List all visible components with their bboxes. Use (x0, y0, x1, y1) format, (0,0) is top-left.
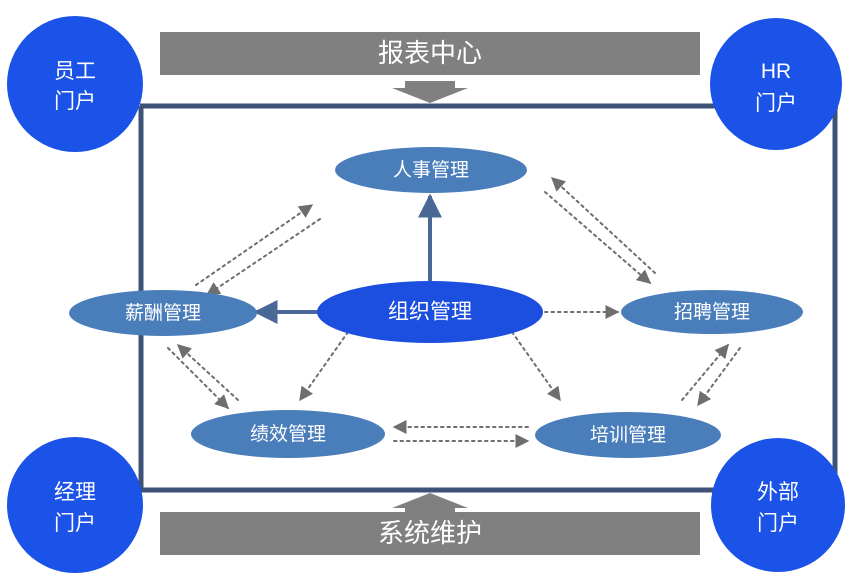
portal-employee-portal-line2: 门户 (54, 90, 96, 113)
portal-manager-portal-line1: 经理 (54, 481, 96, 504)
portal-employee-portal[interactable]: 员工 门户 (7, 16, 143, 152)
link-recruitment-to-personnel (545, 192, 650, 283)
node-training-management[interactable]: 培训管理 (535, 412, 721, 458)
node-compensation-management-label: 薪酬管理 (125, 302, 201, 324)
node-training-management-label: 培训管理 (590, 424, 666, 446)
node-org-management[interactable]: 组织管理 (317, 281, 543, 343)
node-org-management-label: 组织管理 (388, 301, 472, 324)
node-recruitment-management-label: 招聘管理 (674, 301, 750, 323)
node-performance-management[interactable]: 绩效管理 (191, 410, 385, 458)
node-personnel-management-label: 人事管理 (393, 159, 469, 181)
portal-external-portal-line2: 门户 (757, 512, 799, 535)
link-recruitment-to-training (698, 348, 740, 405)
portal-employee-portal-line1: 员工 (54, 60, 96, 83)
arrow-up-icon (392, 493, 468, 515)
link-personnel-to-recruitment (552, 178, 655, 273)
portal-hr-portal-line2: 门户 (755, 92, 797, 115)
link-org-to-training (512, 332, 560, 400)
portal-manager-portal-line2: 门户 (54, 512, 96, 535)
link-performance-to-compensation (178, 345, 238, 400)
arrow-down-icon (392, 81, 468, 103)
node-performance-management-label: 绩效管理 (250, 423, 326, 445)
bar-system-maintenance[interactable]: 系统维护 (160, 512, 700, 555)
bar-report-center-label: 报表中心 (378, 38, 482, 68)
portal-manager-portal[interactable]: 经理 门户 (7, 437, 143, 573)
bar-report-center[interactable]: 报表中心 (160, 32, 700, 75)
node-compensation-management[interactable]: 薪酬管理 (69, 290, 257, 336)
node-recruitment-management[interactable]: 招聘管理 (621, 290, 803, 334)
link-training-to-recruitment (682, 345, 728, 400)
link-personnel-to-compensation (207, 219, 320, 295)
node-personnel-management[interactable]: 人事管理 (335, 147, 527, 193)
portal-hr-portal-line1: HR (761, 60, 791, 83)
portal-external-portal[interactable]: 外部 门户 (711, 438, 845, 572)
link-org-to-performance (300, 332, 348, 400)
diagram-canvas: 报表中心 系统维护 (0, 0, 865, 582)
link-compensation-to-performance (168, 348, 228, 408)
link-compensation-to-personnel (196, 205, 312, 285)
portal-hr-portal[interactable]: HR 门户 (710, 18, 842, 150)
portal-external-portal-line1: 外部 (757, 481, 799, 504)
hr-architecture-diagram: 报表中心 系统维护 (0, 0, 865, 582)
bar-system-maintenance-label: 系统维护 (378, 518, 482, 548)
